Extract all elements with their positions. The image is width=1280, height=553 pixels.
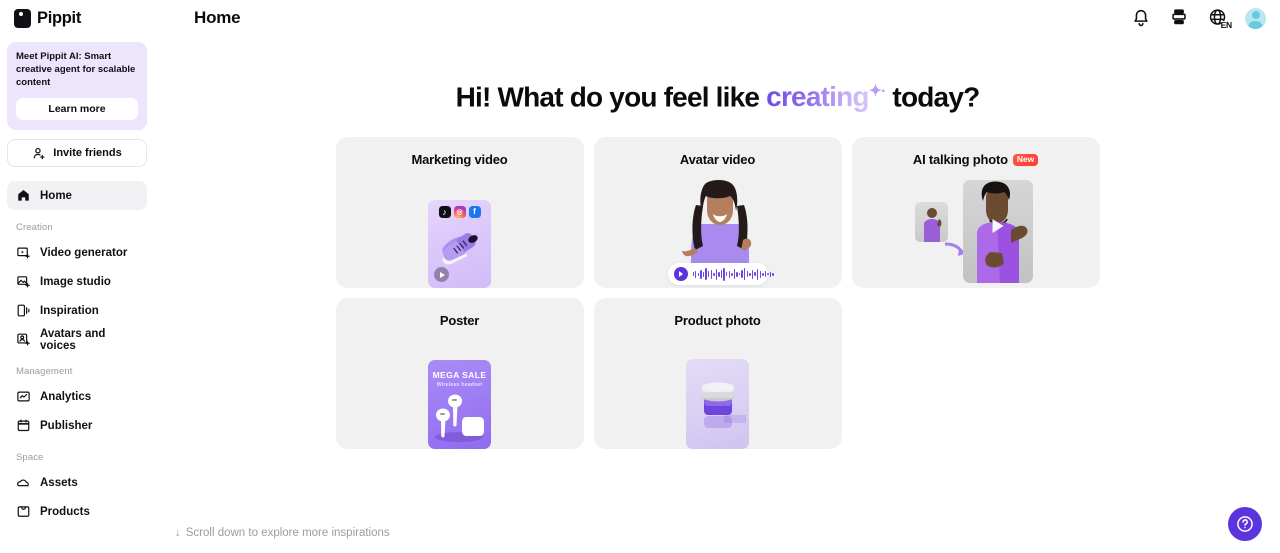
feature-card-grid: Marketing video ♪ ◎ f [336,137,1100,449]
marketing-video-thumbnail: ♪ ◎ f [336,177,584,288]
sparkle-icon: ✦· [869,83,886,100]
card-ai-talking-photo-title: AI talking photo New [852,137,1100,167]
sidebar-item-home[interactable]: Home [7,181,147,210]
instagram-icon: ◎ [454,206,466,218]
brand-name: Pippit [37,9,81,28]
play-icon [992,219,1003,233]
arrow-down-icon: ↓ [175,527,181,539]
workspace-switcher-button[interactable] [1167,6,1191,30]
card-avatar-video[interactable]: Avatar video [594,137,842,288]
presenter-image [681,180,759,272]
main-content: Hi! What do you feel like creating✦· tod… [155,36,1280,553]
card-title-text: AI talking photo [913,152,1008,167]
poster-headline: MEGA SALE [428,370,491,380]
bell-icon [1130,7,1152,29]
sidebar-item-assets[interactable]: Assets [7,468,147,497]
heading-suffix: today? [885,81,979,112]
language-code: EN [1221,21,1232,30]
sneaker-image [435,228,485,266]
page-heading: Hi! What do you feel like creating✦· tod… [175,36,1260,137]
card-product-photo-title: Product photo [594,298,842,328]
card-marketing-video-title: Marketing video [336,137,584,167]
add-user-icon [32,146,47,161]
sidebar-item-image-studio[interactable]: Image studio [7,267,147,296]
generated-video [963,180,1033,283]
avatar-video-thumbnail [594,177,842,288]
promo-text: Meet Pippit AI: Smart creative agent for… [16,51,138,89]
notifications-button[interactable] [1129,6,1153,30]
sidebar-group-management: Management [7,354,147,382]
avatar[interactable] [1245,8,1266,29]
sidebar-item-publisher-label: Publisher [40,420,92,432]
image-add-icon [16,274,31,289]
product-photo-thumbnail [594,338,842,449]
sidebar-item-analytics-label: Analytics [40,391,91,403]
sidebar-group-creation: Creation [7,210,147,238]
card-avatar-video-title: Avatar video [594,137,842,167]
invite-friends-label: Invite friends [53,147,121,159]
box-icon [16,504,31,519]
sidebar-group-space: Space [7,440,147,468]
brand-logo[interactable]: Pippit [14,9,166,28]
pippit-logo-icon [14,9,31,28]
sidebar-item-video-generator-label: Video generator [40,247,127,259]
source-photo [915,202,948,242]
sidebar-item-analytics[interactable]: Analytics [7,382,147,411]
card-ai-talking-photo[interactable]: AI talking photo New [852,137,1100,288]
audio-player-bar[interactable] [668,263,768,285]
cloud-icon [16,475,31,490]
sidebar-item-video-generator[interactable]: Video generator [7,238,147,267]
sidebar-item-assets-label: Assets [40,477,78,489]
card-title-text: Marketing video [412,152,508,167]
language-selector[interactable]: EN [1205,6,1231,30]
card-title-text: Avatar video [680,152,755,167]
poster-thumbnail: MEGA SALE Wireless headset [336,338,584,449]
heading-highlight: creating [766,81,869,112]
audio-waveform [693,267,774,281]
card-marketing-video[interactable]: Marketing video ♪ ◎ f [336,137,584,288]
sidebar-item-products[interactable]: Products [7,497,147,526]
scroll-hint: ↓ Scroll down to explore more inspiratio… [175,527,390,539]
card-title-text: Poster [440,313,479,328]
question-mark-icon [1235,514,1255,534]
play-icon[interactable] [674,267,688,281]
sidebar-item-inspiration-label: Inspiration [40,305,99,317]
top-bar-actions: EN [1129,6,1266,30]
scroll-hint-text: Scroll down to explore more inspirations [186,527,390,539]
play-icon [434,267,449,282]
top-bar: Pippit Home EN [0,0,1280,36]
heading-prefix: Hi! What do you feel like [456,81,767,112]
social-icons: ♪ ◎ f [428,206,491,218]
learn-more-button[interactable]: Learn more [16,98,138,120]
phone-play-icon [16,303,31,318]
facebook-icon: f [469,206,481,218]
sidebar-item-publisher[interactable]: Publisher [7,411,147,440]
analytics-icon [16,389,31,404]
video-add-icon [16,245,31,260]
calendar-icon [16,418,31,433]
home-icon [16,188,31,203]
sidebar-item-home-label: Home [40,190,72,202]
earbuds-image [428,385,491,445]
stack-icon [1168,7,1190,29]
sidebar-item-inspiration[interactable]: Inspiration [7,296,147,325]
tiktok-icon: ♪ [439,206,451,218]
sidebar-item-products-label: Products [40,506,90,518]
cosmetic-jar-image [686,359,749,449]
avatar-add-icon [16,332,31,347]
invite-friends-button[interactable]: Invite friends [7,139,147,167]
page-title: Home [194,8,240,28]
promo-banner: Meet Pippit AI: Smart creative agent for… [7,42,147,130]
sidebar: Meet Pippit AI: Smart creative agent for… [0,36,155,553]
status-badge: New [1013,154,1038,166]
card-poster-title: Poster [336,298,584,328]
card-poster[interactable]: Poster MEGA SALE Wireless headset [336,298,584,449]
help-button[interactable] [1228,507,1262,541]
ai-talking-photo-thumbnail [852,177,1100,288]
sidebar-item-image-studio-label: Image studio [40,276,111,288]
sidebar-item-avatars-and-voices-label: Avatars and voices [40,328,138,352]
card-product-photo[interactable]: Product photo [594,298,842,449]
card-title-text: Product photo [674,313,760,328]
sidebar-item-avatars-and-voices[interactable]: Avatars and voices [7,325,147,354]
